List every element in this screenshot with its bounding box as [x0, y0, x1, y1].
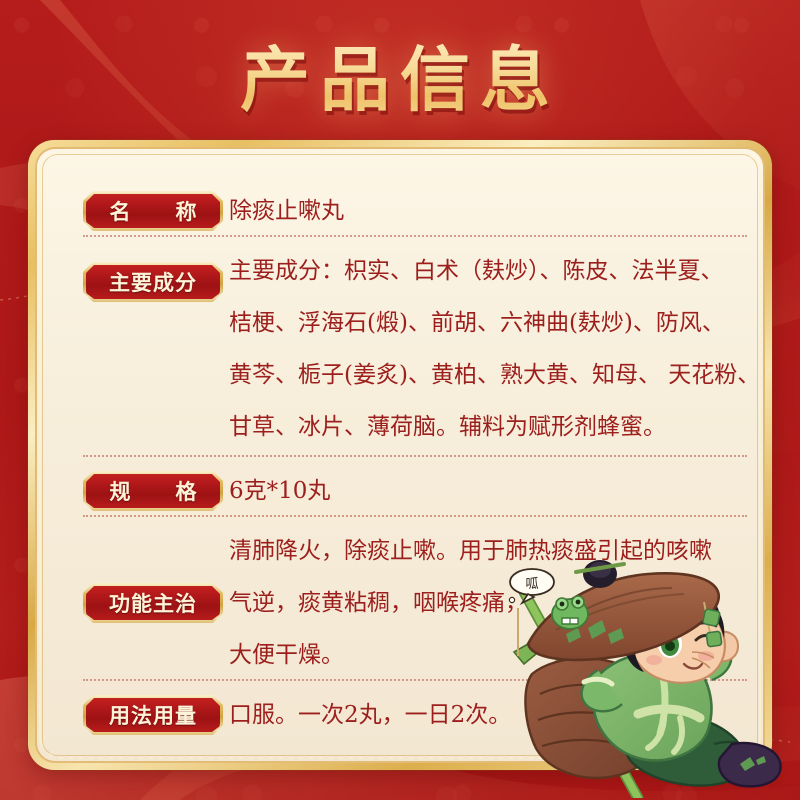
- row-value-line: 黄芩、栀子(姜炙)、黄柏、熟大黄、知母、 天花粉、: [229, 349, 760, 401]
- row-label-badge: 规 格: [83, 471, 223, 511]
- row-value-line: 6克*10丸: [229, 465, 330, 517]
- row-value: 除痰止嗽丸: [229, 185, 344, 237]
- row-value: 清肺降火，除痰止嗽。用于肺热痰盛引起的咳嗽 气逆，痰黄粘稠，咽喉疼痛， 大便干燥…: [229, 525, 712, 681]
- row-label-text: 规 格: [86, 474, 220, 508]
- row-label-badge: 主要成分: [83, 262, 223, 302]
- row-value-line: 甘草、冰片、薄荷脑。辅料为赋形剂蜂蜜。: [229, 401, 760, 453]
- row-value-line: 主要成分：枳实、白术（麸炒）、陈皮、法半夏、: [229, 245, 760, 297]
- row-value: 6克*10丸: [229, 465, 330, 517]
- row-value-line: 桔梗、浮海石(煅)、前胡、六神曲(麸炒)、防风、: [229, 297, 760, 349]
- info-rows: 名 称 除痰止嗽丸 主要成分 主要成分：枳实、白术（麸炒）、陈皮、法半夏、 桔梗…: [37, 149, 763, 761]
- page-title: 产品信息: [240, 24, 560, 125]
- content-panel: 名 称 除痰止嗽丸 主要成分 主要成分：枳实、白术（麸炒）、陈皮、法半夏、 桔梗…: [35, 147, 765, 763]
- row-label-badge: 名 称: [83, 191, 223, 231]
- row-value-line: 清肺降火，除痰止嗽。用于肺热痰盛引起的咳嗽: [229, 525, 712, 577]
- row-value-line: 大便干燥。: [229, 629, 712, 681]
- content-frame: 名 称 除痰止嗽丸 主要成分 主要成分：枳实、白术（麸炒）、陈皮、法半夏、 桔梗…: [28, 140, 772, 770]
- row-label-text: 用法用量: [86, 698, 220, 732]
- row-label-text: 名 称: [86, 194, 220, 228]
- row-separator: [83, 515, 747, 517]
- poster-title-area: 产品信息: [0, 24, 800, 125]
- row-separator: [83, 235, 747, 237]
- product-info-poster: 产品信息 名 称 除痰止嗽丸 主要成分: [0, 0, 800, 800]
- row-label-text: 主要成分: [86, 265, 220, 299]
- row-label-badge: 用法用量: [83, 695, 223, 735]
- row-value: 口服。一次2丸，一日2次。: [229, 689, 511, 741]
- row-separator: [83, 455, 747, 457]
- row-label-text: 功能主治: [86, 586, 220, 620]
- row-value: 主要成分：枳实、白术（麸炒）、陈皮、法半夏、 桔梗、浮海石(煅)、前胡、六神曲(…: [229, 245, 760, 453]
- row-label-badge: 功能主治: [83, 583, 223, 623]
- row-value-line: 除痰止嗽丸: [229, 185, 344, 237]
- row-value-line: 气逆，痰黄粘稠，咽喉疼痛，: [229, 577, 712, 629]
- row-value-line: 口服。一次2丸，一日2次。: [229, 689, 511, 741]
- row-separator: [83, 679, 747, 681]
